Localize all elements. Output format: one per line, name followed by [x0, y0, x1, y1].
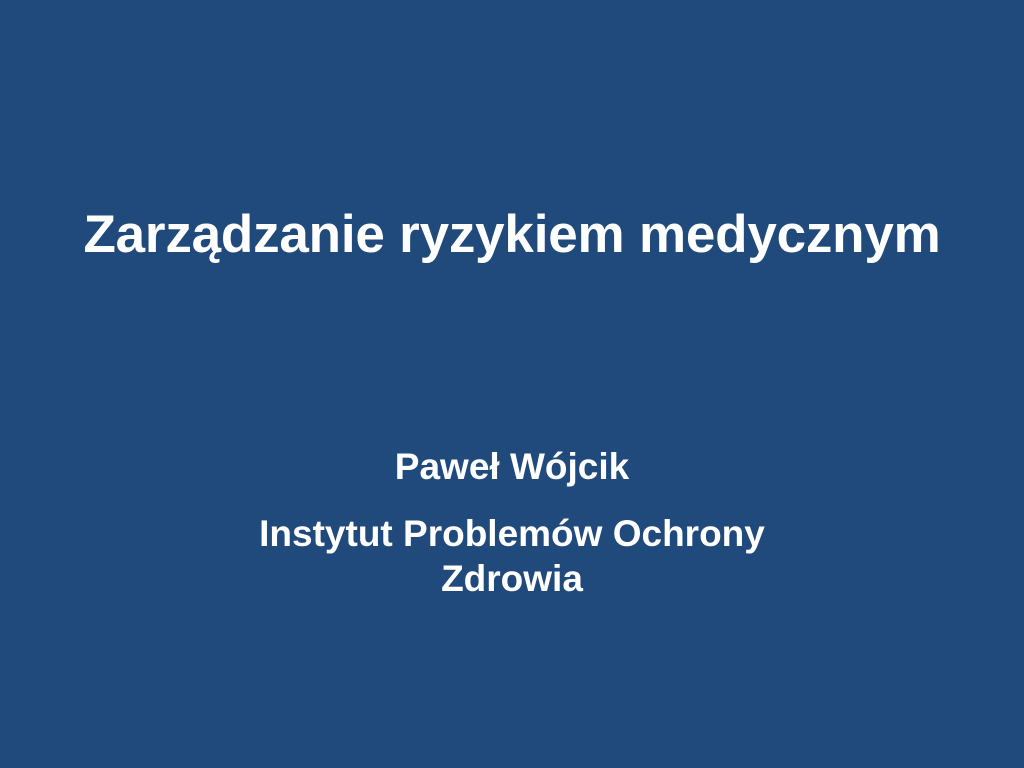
presenter-name: Paweł Wójcik — [232, 444, 792, 489]
title-slide: Zarządzanie ryzykiem medycznym Paweł Wój… — [0, 0, 1024, 768]
title-block: Zarządzanie ryzykiem medycznym — [62, 205, 962, 264]
presenter-affiliation: Instytut Problemów Ochrony Zdrowia — [232, 511, 792, 601]
subtitle-block: Paweł Wójcik Instytut Problemów Ochrony … — [232, 444, 792, 601]
page-title: Zarządzanie ryzykiem medycznym — [62, 205, 962, 264]
